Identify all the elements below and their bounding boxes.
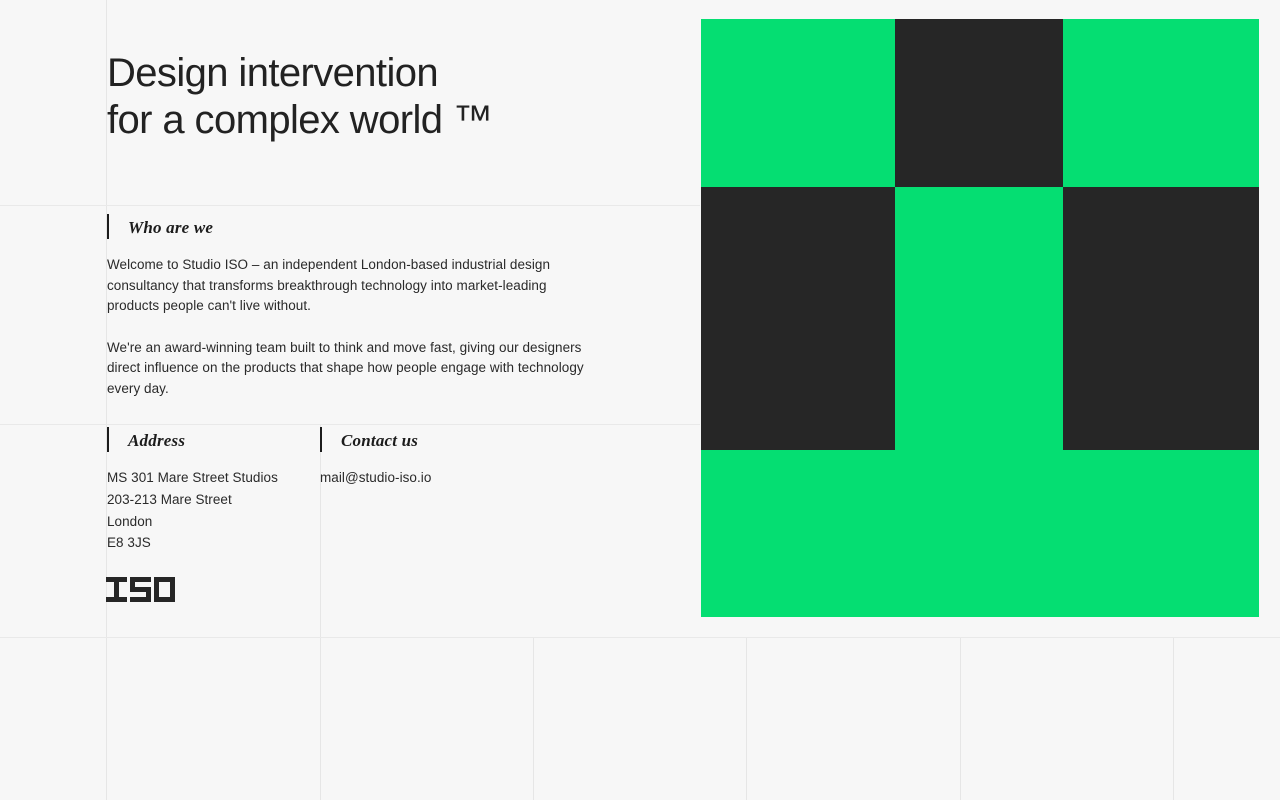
contact-block: mail@studio-iso.io [320, 467, 530, 489]
address-line: 203-213 Mare Street [107, 489, 317, 511]
tile-r2c2 [895, 187, 1063, 450]
address-line: E8 3JS [107, 532, 317, 554]
tile-r3c3 [1063, 450, 1259, 617]
section-heading-contact-us: Contact us [320, 431, 418, 451]
about-paragraph-2: We're an award-winning team built to thi… [107, 338, 597, 400]
tile-r1c2 [895, 19, 1063, 187]
tile-r3c2 [895, 450, 1063, 617]
tile-r3c1 [701, 450, 895, 617]
iso-logo [106, 577, 175, 602]
email-link[interactable]: mail@studio-iso.io [320, 470, 431, 485]
heading-tick-icon [107, 214, 109, 239]
address-line: London [107, 511, 317, 533]
section-heading-label: Address [107, 431, 185, 451]
section-heading-label: Contact us [320, 431, 418, 451]
address-block: MS 301 Mare Street Studios 203-213 Mare … [107, 467, 317, 554]
section-heading-who-are-we: Who are we [107, 218, 213, 238]
section-heading-label: Who are we [107, 218, 213, 238]
address-line: MS 301 Mare Street Studios [107, 467, 317, 489]
about-copy: Welcome to Studio ISO – an independent L… [107, 255, 597, 400]
tile-r1c3 [1063, 19, 1259, 187]
about-paragraph-1: Welcome to Studio ISO – an independent L… [107, 255, 597, 317]
tile-r2c1 [701, 187, 895, 450]
tile-r1c1 [701, 19, 895, 187]
tile-grid-graphic [701, 19, 1259, 617]
page-content: Design intervention for a complex world … [0, 0, 1280, 800]
tile-r2c3 [1063, 187, 1259, 450]
heading-tick-icon [107, 427, 109, 452]
section-heading-address: Address [107, 431, 185, 451]
page-title: Design intervention for a complex world … [107, 50, 492, 144]
heading-tick-icon [320, 427, 322, 452]
